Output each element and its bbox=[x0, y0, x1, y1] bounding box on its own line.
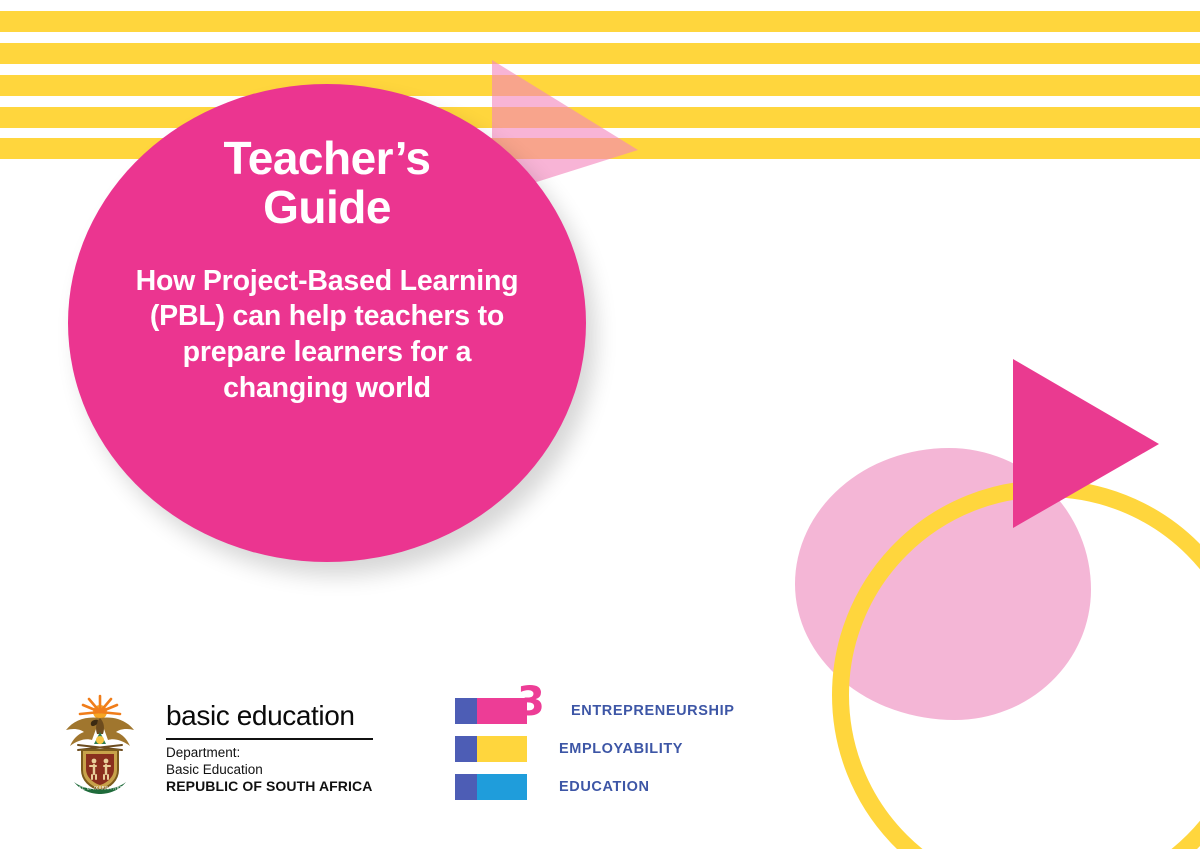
dbe-logo-lockup: !KE E: /XARRA //KE basic education Depar… bbox=[60, 688, 373, 796]
pink-play-triangle bbox=[1013, 359, 1159, 528]
e3-bar-cap bbox=[455, 698, 477, 724]
dbe-wordmark: basic education bbox=[166, 702, 373, 736]
e3-bar-employability bbox=[455, 736, 527, 762]
e3-row-entrepreneurship: 3 ENTREPRENEURSHIP bbox=[455, 698, 735, 724]
e3-bar-cap bbox=[455, 736, 477, 762]
stripe-3 bbox=[0, 75, 1200, 96]
south-african-coat-of-arms-icon: !KE E: /XARRA //KE bbox=[60, 688, 140, 794]
stripe-1 bbox=[0, 11, 1200, 32]
e3-bar-fill bbox=[477, 736, 527, 762]
e3-label-education: EDUCATION bbox=[559, 779, 650, 795]
dbe-divider bbox=[166, 738, 373, 740]
hero-circle: Teacher’sGuide How Project-Based Learnin… bbox=[68, 84, 586, 562]
e3-bar-fill bbox=[477, 774, 527, 800]
page-title-line-2: Guide bbox=[263, 181, 391, 233]
e3-logo: 3 ENTREPRENEURSHIP EMPLOYABILITY EDUCATI… bbox=[455, 698, 735, 812]
publication-cover: Teacher’sGuide How Project-Based Learnin… bbox=[0, 0, 1200, 849]
svg-text:!KE E: /XARRA //KE: !KE E: /XARRA //KE bbox=[77, 786, 123, 792]
dbe-department-label: Department: bbox=[166, 744, 373, 761]
page-title: Teacher’sGuide bbox=[117, 134, 537, 232]
dbe-text-block: basic education Department: Basic Educat… bbox=[166, 688, 373, 796]
e3-label-employability: EMPLOYABILITY bbox=[559, 741, 683, 757]
page-title-line-1: Teacher’s bbox=[224, 132, 431, 184]
dbe-country-line: REPUBLIC OF SOUTH AFRICA bbox=[166, 778, 373, 796]
e3-bar-cap bbox=[455, 774, 477, 800]
e3-label-entrepreneurship: ENTREPRENEURSHIP bbox=[571, 703, 735, 719]
page-subtitle: How Project-Based Learning (PBL) can hel… bbox=[127, 264, 527, 408]
e3-row-employability: EMPLOYABILITY bbox=[455, 736, 735, 762]
stripe-2 bbox=[0, 43, 1200, 64]
e3-row-education: EDUCATION bbox=[455, 774, 735, 800]
dbe-department-name: Basic Education bbox=[166, 761, 373, 778]
e3-numeral: 3 bbox=[517, 682, 545, 722]
e3-bar-education bbox=[455, 774, 527, 800]
